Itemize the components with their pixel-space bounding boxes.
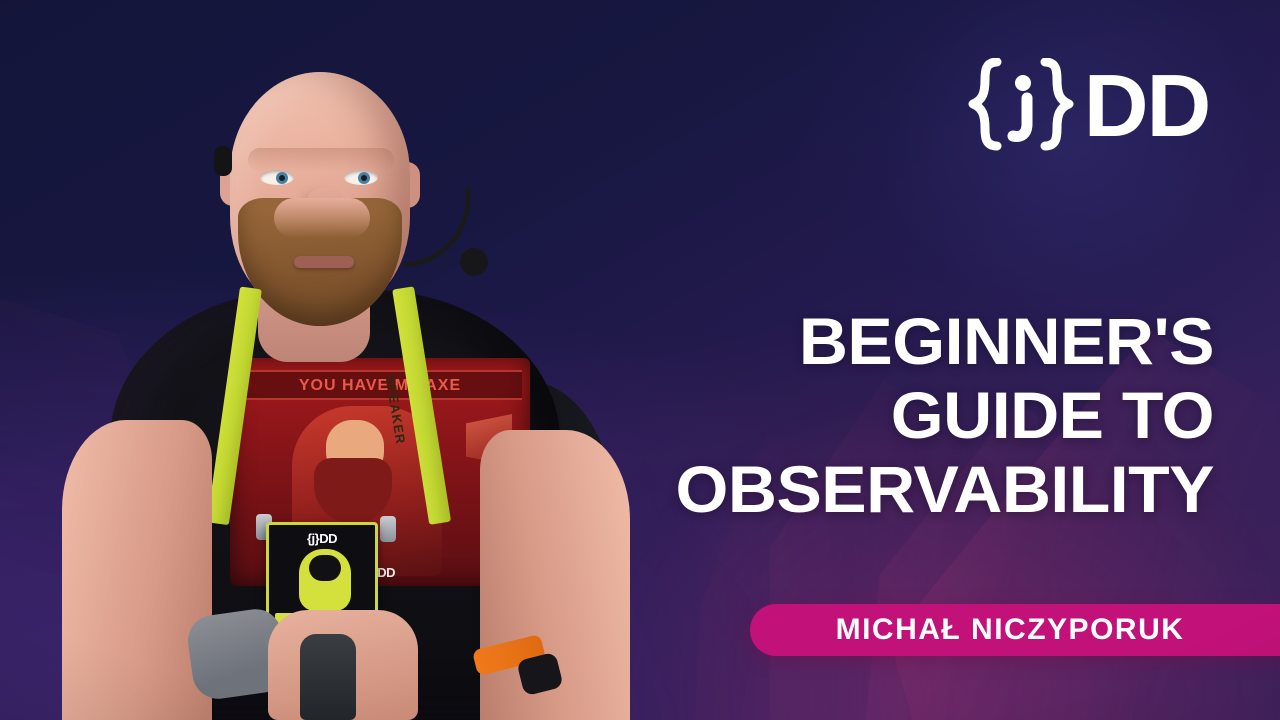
headset-earpiece-icon — [214, 146, 232, 176]
speaker-name-text: MICHAŁ NICZYPORUK — [836, 613, 1185, 647]
jdd-logo[interactable]: DD — [961, 58, 1208, 154]
headset-microphone-icon — [460, 248, 488, 276]
talk-title-line-2: GUIDE TO — [472, 378, 1214, 452]
speaker-pupil-right — [361, 175, 367, 181]
badge-jdd-logo: {j}DD — [269, 531, 375, 546]
speaker-arm-left — [62, 420, 212, 720]
thumbnail-canvas: YOU HAVE MY AXE {j}DD SPE — [0, 0, 1280, 720]
speaker-mouth — [294, 256, 354, 268]
speaker-upper-lip — [274, 198, 370, 238]
badge-astronaut-visor-icon — [309, 555, 341, 581]
lanyard-clip-right — [380, 516, 396, 542]
speaker-brow — [248, 148, 394, 172]
speaker-held-object — [300, 634, 356, 720]
speaker-name-badge: MICHAŁ NICZYPORUK — [750, 604, 1280, 656]
talk-title-line-3: OBSERVABILITY — [472, 452, 1214, 526]
jdd-logo-dd-text: DD — [1084, 62, 1210, 150]
speaker-pupil-left — [279, 175, 285, 181]
talk-title: BEGINNER'S GUIDE TO OBSERVABILITY — [494, 304, 1214, 526]
talk-title-line-1: BEGINNER'S — [472, 304, 1214, 378]
jdd-logo-brace-j-icon — [961, 58, 1081, 154]
